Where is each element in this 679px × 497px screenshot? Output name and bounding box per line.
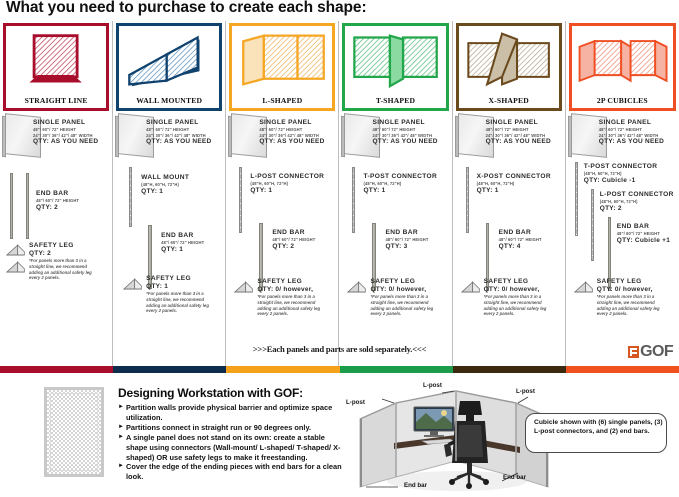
straight-line-shape-icon — [6, 28, 106, 92]
shape-columns: STRAIGHT LINE SINGLE PANEL 48"/ 60"/ 72"… — [0, 21, 679, 366]
parts-list-t-shaped: SINGLE PANEL 48"/ 60"/ 72" HEIGHT 24"/ 3… — [339, 111, 451, 366]
list-item: Cover the edge of the ending pieces with… — [118, 462, 346, 482]
shape-card-t-shaped[interactable]: T-SHAPED — [342, 23, 448, 111]
part-l-post-connector: L-POST CONNECTOR (48"H, 60"H, 72"H) QTY:… — [600, 191, 674, 213]
color-bar-2p-cubicles — [566, 366, 679, 373]
part-safety-leg: SAFETY LEG QTY: 0/ however, *For panels … — [257, 278, 323, 317]
wall-mount-icon — [129, 167, 132, 227]
part-safety-leg: SAFETY LEG QTY: 1 *For panels more than … — [146, 275, 212, 314]
shape-card-2p-cubicles[interactable]: 2P CUBICLES — [569, 23, 676, 111]
label-endbar-right: End bar — [503, 474, 526, 481]
page-title: What you need to purchase to create each… — [6, 0, 367, 17]
sold-separately-note: >>>Each panels and parts are sold separa… — [0, 344, 679, 354]
l-shaped-shape-icon — [232, 28, 332, 92]
t-post-connector-icon — [575, 162, 578, 236]
part-l-post-connector: L-POST CONNECTOR (48"H, 60"H, 72"H) QTY:… — [250, 173, 324, 195]
parts-list-2p-cubicles: SINGLE PANEL 48"/ 60"/ 72" HEIGHT 24"/ 3… — [566, 111, 679, 366]
part-safety-leg: SAFETY LEG QTY: 2 *For panels more than … — [29, 242, 95, 281]
color-bar-l-shaped — [226, 366, 339, 373]
color-bar-x-shaped — [453, 366, 566, 373]
parts-list-straight-line: SINGLE PANEL 48"/ 60"/ 72" HEIGHT 24"/ 3… — [0, 111, 112, 366]
part-end-bar: END BAR 48"/ 60"/ 72" HEIGHT QTY: 2 — [272, 229, 315, 251]
part-end-bar: END BAR 48"/ 60"/ 72" HEIGHT QTY: Cubicl… — [617, 223, 670, 245]
part-end-bar: END BAR 48"/ 60"/ 72" HEIGHT QTY: 2 — [36, 190, 79, 212]
part-end-bar: END BAR 48"/ 60"/ 72" HEIGHT QTY: 1 — [161, 232, 204, 254]
shape-label: L-SHAPED — [232, 96, 332, 105]
part-t-post-connector: T-POST CONNECTOR (48"H, 60"H, 72"H) QTY:… — [363, 173, 437, 195]
part-safety-leg: SAFETY LEG QTY: 0/ however, *For panels … — [370, 278, 436, 317]
column-2p-cubicles[interactable]: 2P CUBICLES SINGLE PANEL 48"/ 60"/ 72" H… — [566, 21, 679, 366]
safety-leg-icon — [234, 281, 254, 294]
infographic-page: What you need to purchase to create each… — [0, 0, 679, 497]
shape-card-l-shaped[interactable]: L-SHAPED — [229, 23, 335, 111]
t-shaped-shape-icon — [345, 28, 445, 92]
shape-label: T-SHAPED — [345, 96, 445, 105]
sample-panel-image — [44, 387, 104, 477]
gof-logo-text: GOF — [640, 345, 673, 359]
part-single-panel: SINGLE PANEL 48"/ 60"/ 72" HEIGHT 24"/ 3… — [599, 119, 664, 147]
part-single-panel: SINGLE PANEL 48"/ 60"/ 72" HEIGHT 24"/ 3… — [33, 119, 98, 147]
column-straight-line[interactable]: STRAIGHT LINE SINGLE PANEL 48"/ 60"/ 72"… — [0, 21, 113, 366]
list-item: A single panel does not stand on its own… — [118, 433, 346, 463]
label-lpost-left: L-post — [346, 399, 365, 406]
part-single-panel: SINGLE PANEL 48"/ 60"/ 72" HEIGHT 24"/ 3… — [372, 119, 437, 147]
designing-bullets: Partition walls provide physical barrier… — [118, 403, 346, 482]
shape-card-x-shaped[interactable]: X-SHAPED — [456, 23, 562, 111]
list-item: Partitions connect in straight run or 90… — [118, 423, 346, 433]
shape-card-straight-line[interactable]: STRAIGHT LINE — [3, 23, 109, 111]
shape-label: X-SHAPED — [459, 96, 559, 105]
color-bar-straight-line — [0, 366, 113, 373]
gof-mark-icon — [628, 346, 639, 358]
shape-label: WALL MOUNTED — [119, 96, 219, 105]
color-bar-wall-mounted — [113, 366, 226, 373]
wall-mounted-shape-icon — [119, 28, 219, 92]
l-post-connector-icon — [239, 167, 242, 233]
part-single-panel: SINGLE PANEL 48"/ 60"/ 72" HEIGHT 24"/ 3… — [486, 119, 551, 147]
part-wall-mount: WALL MOUNT (48"H, 60"H, 72"H) QTY: 1 — [141, 174, 189, 196]
safety-leg-icon — [461, 281, 481, 294]
part-safety-leg: SAFETY LEG QTY: 0/ however, *For panels … — [597, 278, 663, 317]
safety-leg-icon — [123, 278, 143, 291]
safety-leg-icon — [347, 281, 367, 294]
shape-card-wall-mounted[interactable]: WALL MOUNTED — [116, 23, 222, 111]
color-bar-t-shaped — [340, 366, 453, 373]
safety-leg-icon — [6, 244, 26, 257]
parts-list-wall-mounted: SINGLE PANEL 48"/ 60"/ 72" HEIGHT 24"/ 3… — [113, 111, 225, 366]
part-single-panel: SINGLE PANEL 48"/ 60"/ 72" HEIGHT 24"/ 3… — [259, 119, 324, 147]
label-lpost-mid: L-post — [423, 382, 442, 389]
bottom-section: Designing Workstation with GOF: Partitio… — [0, 373, 679, 497]
list-item: Partition walls provide physical barrier… — [118, 403, 346, 423]
label-lpost-right: L-post — [516, 388, 535, 395]
x-post-connector-icon — [466, 167, 469, 233]
part-t-post-connector: T-POST CONNECTOR (48"H, 60"H, 72"H) QTY:… — [584, 163, 658, 185]
safety-leg-icon — [574, 281, 594, 294]
part-end-bar: END BAR 48"/ 60"/ 72" HEIGHT QTY: 4 — [499, 229, 542, 251]
column-x-shaped[interactable]: X-SHAPED SINGLE PANEL 48"/ 60"/ 72" HEIG… — [453, 21, 566, 366]
shape-label: STRAIGHT LINE — [6, 96, 106, 105]
t-post-connector-icon — [352, 167, 355, 233]
shape-color-bar — [0, 366, 679, 373]
part-safety-leg: SAFETY LEG QTY: 0/ however, *For panels … — [484, 278, 550, 317]
gof-logo[interactable]: GOF — [628, 345, 673, 359]
part-single-panel: SINGLE PANEL 48"/ 60"/ 72" HEIGHT 24"/ 3… — [146, 119, 211, 147]
parts-list-l-shaped: SINGLE PANEL 48"/ 60"/ 72" HEIGHT 24"/ 3… — [226, 111, 338, 366]
parts-list-x-shaped: SINGLE PANEL 48"/ 60"/ 72" HEIGHT 24"/ 3… — [453, 111, 565, 366]
l-post-connector-icon — [591, 189, 594, 261]
end-bar-icon — [10, 173, 13, 239]
cubicle-callout: Cubicle shown with (6) single panels, (3… — [525, 413, 667, 453]
2p-cubicles-shape-icon — [572, 28, 673, 92]
column-t-shaped[interactable]: T-SHAPED SINGLE PANEL 48"/ 60"/ 72" HEIG… — [339, 21, 452, 366]
label-endbar-left: End bar — [404, 482, 427, 489]
x-shaped-shape-icon — [459, 28, 559, 92]
designing-title: Designing Workstation with GOF: — [118, 386, 303, 400]
part-x-post-connector: X-POST CONNECTOR (48"H, 60"H, 72"H) QTY:… — [477, 173, 551, 195]
part-end-bar: END BAR 48"/ 60"/ 72" HEIGHT QTY: 3 — [385, 229, 428, 251]
safety-leg-icon — [6, 261, 26, 274]
column-l-shaped[interactable]: L-SHAPED SINGLE PANEL 48"/ 60"/ 72" HEIG… — [226, 21, 339, 366]
shape-label: 2P CUBICLES — [572, 96, 673, 105]
column-wall-mounted[interactable]: WALL MOUNTED SINGLE PANEL 48"/ 60"/ 72" … — [113, 21, 226, 366]
end-bar-icon — [26, 173, 29, 239]
cubicle-callout-text: Cubicle shown with (6) single panels, (3… — [534, 419, 664, 436]
